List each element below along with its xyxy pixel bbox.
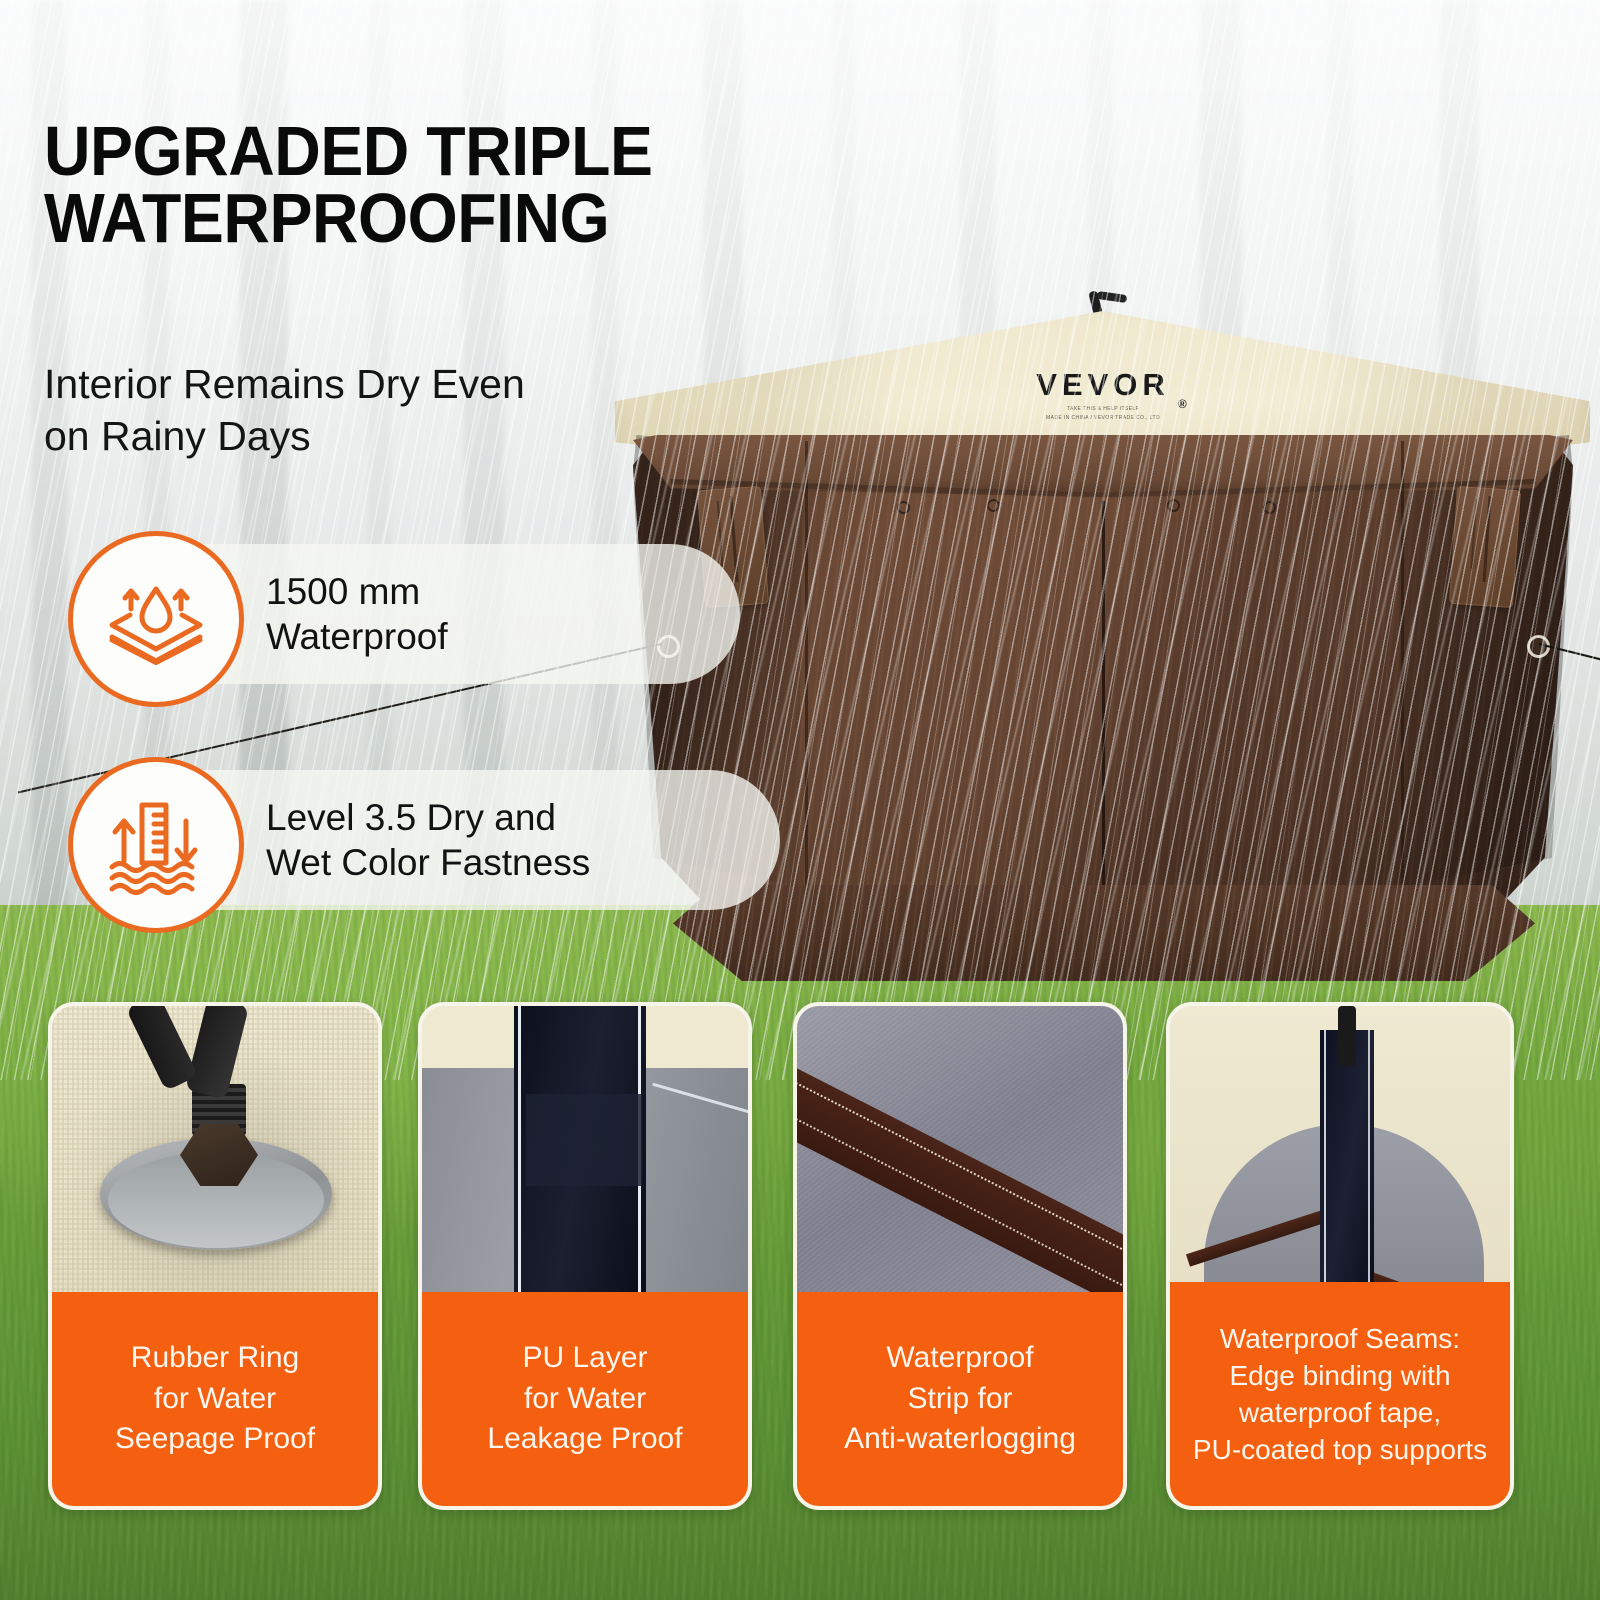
pu-layer-seam-photo [422, 1006, 748, 1300]
card-caption-3: Waterproof Strip for Anti-waterlogging [797, 1292, 1123, 1506]
detail-card-rubber-ring: Rubber Ring for Water Seepage Proof [48, 1002, 382, 1510]
card-caption-1: Rubber Ring for Water Seepage Proof [52, 1292, 378, 1506]
page-subtitle: Interior Remains Dry Even on Rainy Days [44, 358, 684, 463]
caption-4-line-1: Waterproof Seams: [1193, 1320, 1487, 1357]
detail-cards-row: Rubber Ring for Water Seepage Proof PU L… [0, 1002, 1600, 1522]
tent-hook-3 [1167, 499, 1180, 512]
headline-line-1: UPGRADED TRIPLE [44, 118, 798, 185]
tent-seam-left [805, 441, 808, 911]
subheading-line-1: Interior Remains Dry Even [44, 358, 684, 410]
caption-2-line-2: for Water [487, 1379, 682, 1420]
tent-hook-2 [987, 499, 1000, 512]
card-caption-2: PU Layer for Water Leakage Proof [422, 1292, 748, 1506]
tent-window-flap-right [1449, 486, 1521, 608]
caption-3-line-2: Strip for [844, 1379, 1076, 1420]
subheading-line-2: on Rainy Days [44, 410, 684, 462]
feature-badge-color-fastness: Level 3.5 Dry and Wet Color Fastness [80, 770, 780, 910]
caption-1-line-3: Seepage Proof [115, 1419, 315, 1460]
brand-fine-print-1: TAKE THIS & HELP ITSELF [983, 406, 1223, 412]
caption-4-line-4: PU-coated top supports [1193, 1431, 1487, 1468]
feature-1-line-1: 1500 mm [266, 569, 448, 614]
caption-4-line-3: waterproof tape, [1193, 1394, 1487, 1431]
rubber-ring-grommet-photo [52, 1006, 378, 1300]
tent-hook-4 [1263, 501, 1276, 514]
caption-3-line-1: Waterproof [844, 1338, 1076, 1379]
color-fastness-gauge-icon [104, 793, 208, 897]
feature-icon-circle-2 [68, 757, 244, 933]
feature-badge-waterproof: 1500 mm Waterproof [80, 544, 740, 684]
waterproof-layers-icon [104, 567, 208, 671]
caption-3-line-3: Anti-waterlogging [844, 1419, 1076, 1460]
page-title: UPGRADED TRIPLE WATERPROOFING [44, 118, 798, 252]
feature-1-line-2: Waterproof [266, 614, 448, 659]
vevor-brand-logo: VEVOR® TAKE THIS & HELP ITSELF MADE IN C… [983, 367, 1223, 421]
brand-fine-print-2: MADE IN CHINA / VEVOR TRADE CO., LTD [983, 415, 1223, 421]
caption-2-line-1: PU Layer [487, 1338, 682, 1379]
tent-hook-1 [897, 501, 910, 514]
detail-card-waterproof-strip: Waterproof Strip for Anti-waterlogging [793, 1002, 1127, 1510]
tent-seam-right [1401, 441, 1404, 911]
caption-1-line-1: Rubber Ring [115, 1338, 315, 1379]
waterproof-seams-photo [1170, 1006, 1510, 1290]
caption-1-line-2: for Water [115, 1379, 315, 1420]
caption-2-line-3: Leakage Proof [487, 1419, 682, 1460]
card-caption-4: Waterproof Seams: Edge binding with wate… [1170, 1282, 1510, 1506]
detail-card-waterproof-seams: Waterproof Seams: Edge binding with wate… [1166, 1002, 1514, 1510]
detail-card-pu-layer: PU Layer for Water Leakage Proof [418, 1002, 752, 1510]
caption-4-line-2: Edge binding with [1193, 1357, 1487, 1394]
feature-icon-circle-1 [68, 531, 244, 707]
product-marketing-poster: VEVOR® TAKE THIS & HELP ITSELF MADE IN C… [0, 0, 1600, 1600]
headline-line-2: WATERPROOFING [44, 185, 798, 252]
waterproof-strip-photo [797, 1006, 1123, 1300]
feature-badge-text-1: 1500 mm Waterproof [266, 569, 448, 659]
tent-skirt-texture [673, 885, 1535, 981]
brand-wordmark: VEVOR [1036, 367, 1170, 403]
feature-2-line-1: Level 3.5 Dry and [266, 795, 590, 840]
feature-2-line-2: Wet Color Fastness [266, 840, 590, 885]
feature-badge-text-2: Level 3.5 Dry and Wet Color Fastness [266, 795, 590, 885]
tent-valance-band [633, 435, 1573, 497]
tent-door-zipper [1102, 501, 1105, 921]
